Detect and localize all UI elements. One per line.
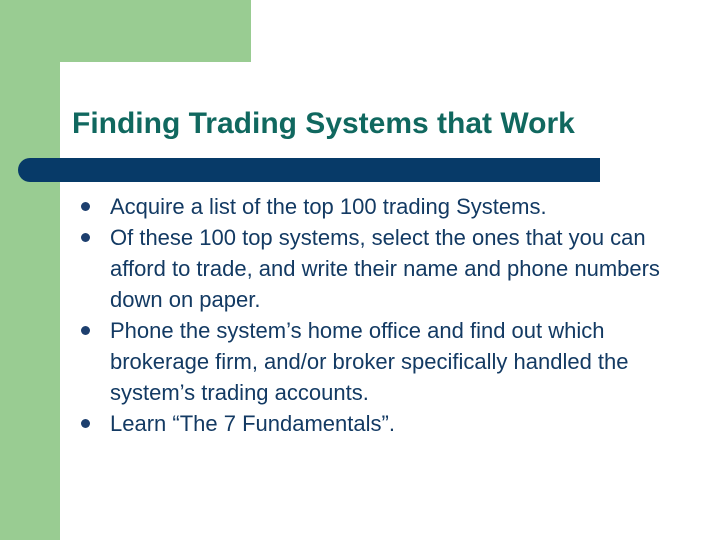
- slide-canvas: Finding Trading Systems that Work Acquir…: [0, 0, 720, 540]
- list-item: Learn “The 7 Fundamentals”.: [78, 408, 698, 439]
- list-item-text: Phone the system’s home office and find …: [110, 318, 629, 405]
- list-item-text: Acquire a list of the top 100 trading Sy…: [110, 194, 547, 219]
- slide-title: Finding Trading Systems that Work: [72, 104, 702, 144]
- disc-bullet-icon: [81, 233, 90, 242]
- list-item: Of these 100 top systems, select the one…: [78, 222, 698, 315]
- list-item-text: Learn “The 7 Fundamentals”.: [110, 411, 395, 436]
- disc-bullet-icon: [81, 202, 90, 211]
- bullet-list: Acquire a list of the top 100 trading Sy…: [78, 191, 698, 439]
- list-item-text: Of these 100 top systems, select the one…: [110, 225, 660, 312]
- list-item: Phone the system’s home office and find …: [78, 315, 698, 408]
- title-accent-bar: [18, 158, 600, 182]
- disc-bullet-icon: [81, 326, 90, 335]
- green-side-strip: [0, 0, 60, 540]
- list-item: Acquire a list of the top 100 trading Sy…: [78, 191, 698, 222]
- disc-bullet-icon: [81, 419, 90, 428]
